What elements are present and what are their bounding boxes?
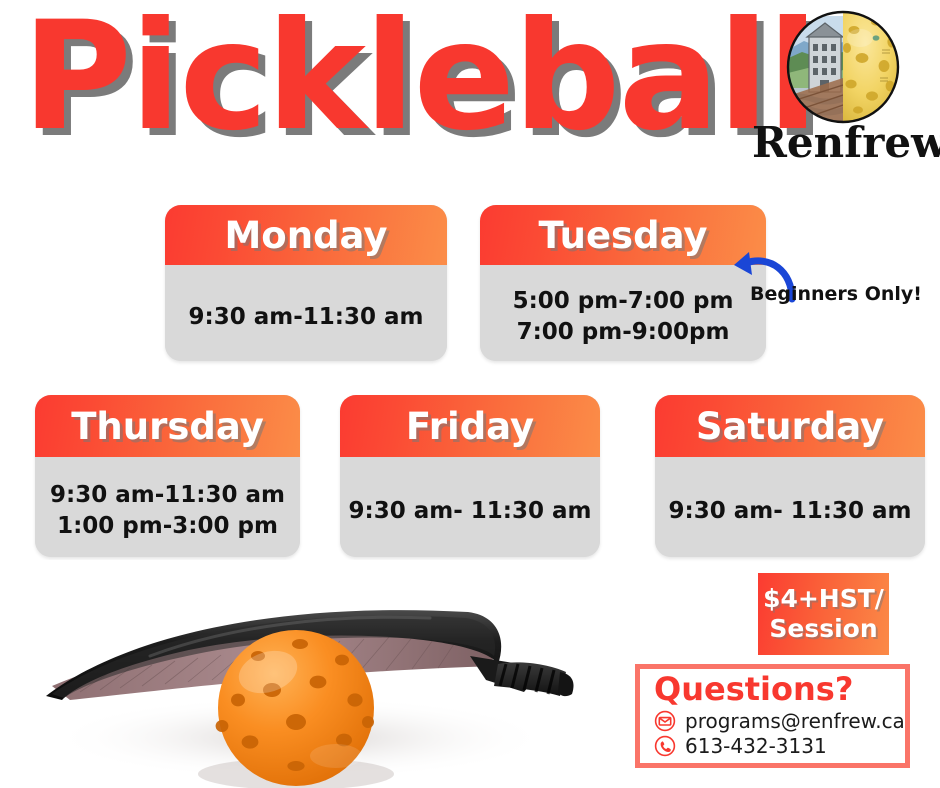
envelope-circle-icon [654,710,676,732]
schedule-card-monday: Monday 9:30 am-11:30 am [165,205,447,361]
time-slot: 5:00 pm-7:00 pm [513,286,734,317]
card-header-friday: Friday [340,395,600,457]
phone-number[interactable]: 613-432-3131 [685,734,827,758]
price-line-2: Session [769,614,877,645]
card-body-monday: 9:30 am-11:30 am [165,265,447,361]
price-badge: $4+HST/ Session [758,573,889,655]
day-label: Monday [224,214,387,257]
time-slot: 9:30 am-11:30 am [189,302,424,333]
card-header-saturday: Saturday [655,395,925,457]
card-body-thursday: 9:30 am-11:30 am 1:00 pm-3:00 pm [35,457,300,557]
email-address[interactable]: programs@renfrew.ca [685,709,905,733]
pickleball-schedule-poster: Pickleball [0,0,940,788]
questions-heading: Questions? [654,673,895,707]
schedule-card-thursday: Thursday 9:30 am-11:30 am 1:00 pm-3:00 p… [35,395,300,557]
card-body-friday: 9:30 am- 11:30 am [340,457,600,557]
day-label: Saturday [696,405,884,448]
schedule-card-saturday: Saturday 9:30 am- 11:30 am [655,395,925,557]
contact-row-email: programs@renfrew.ca [654,709,895,733]
renfrew-split-circle-pickleball-logo-icon [784,8,902,126]
beginners-only-note: Beginners Only! [750,283,922,305]
contact-row-phone: 613-432-3131 [654,734,895,758]
price-line-1: $4+HST/ [763,584,884,615]
card-header-monday: Monday [165,205,447,265]
time-slot: 7:00 pm-9:00pm [517,317,730,348]
time-slot: 9:30 am- 11:30 am [669,496,912,527]
phone-circle-icon [654,735,676,757]
day-label: Thursday [71,405,264,448]
questions-contact-box: Questions? programs@renfrew.ca 613-432-3… [635,664,910,768]
card-body-saturday: 9:30 am- 11:30 am [655,457,925,557]
day-label: Tuesday [538,214,707,257]
brand-wordmark: Renfrew [752,118,940,167]
card-header-thursday: Thursday [35,395,300,457]
day-label: Friday [406,405,534,448]
time-slot: 1:00 pm-3:00 pm [57,511,278,542]
pickleball-paddle-and-ball-photo [0,560,620,788]
time-slot: 9:30 am- 11:30 am [349,496,592,527]
time-slot: 9:30 am-11:30 am [50,480,285,511]
schedule-card-friday: Friday 9:30 am- 11:30 am [340,395,600,557]
page-title: Pickleball [22,2,817,152]
